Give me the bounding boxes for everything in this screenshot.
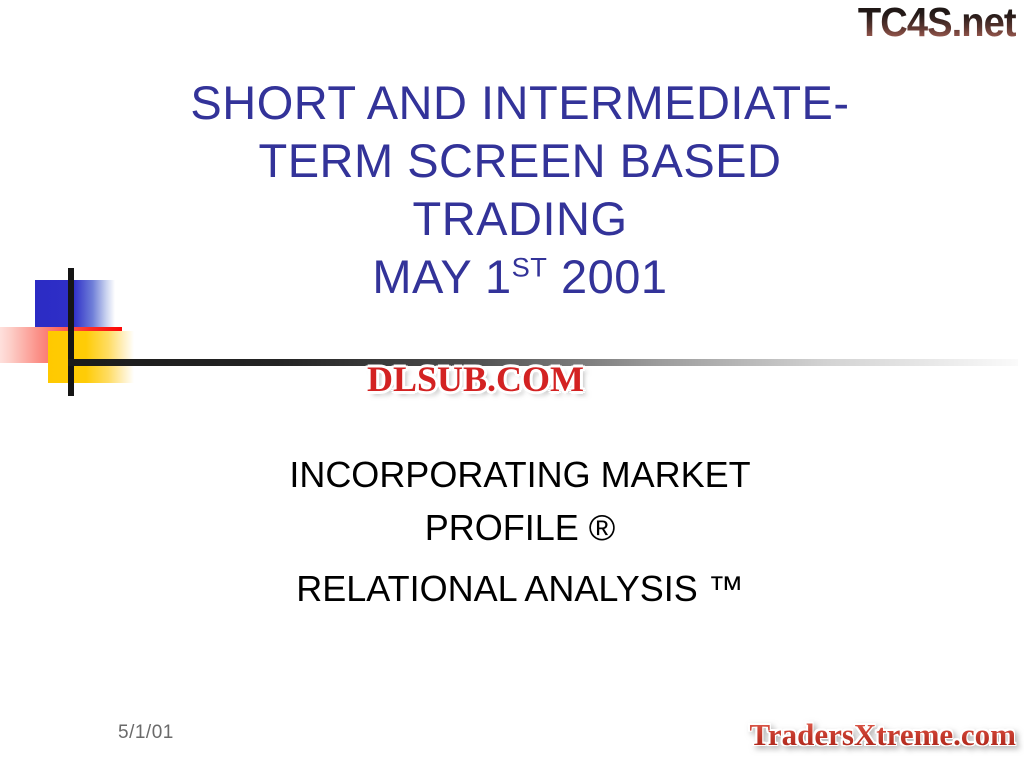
- slide-subtitle: INCORPORATING MARKET PROFILE ® RELATIONA…: [120, 448, 920, 615]
- subtitle-line-3: RELATIONAL ANALYSIS ™: [120, 562, 920, 615]
- vertical-rule-decoration: [68, 268, 74, 396]
- subtitle-line-1: INCORPORATING MARKET: [120, 448, 920, 501]
- presentation-slide: TC4S.net SHORT AND INTERMEDIATE- TERM SC…: [0, 0, 1024, 768]
- blue-square-decoration: [35, 280, 115, 332]
- title-line-2: TERM SCREEN BASED: [120, 132, 920, 190]
- tc4s-watermark-logo: TC4S.net: [858, 2, 1016, 43]
- subtitle-spacer: [120, 554, 920, 562]
- subtitle-line-2: PROFILE ®: [120, 501, 920, 554]
- slide-footer-date: 5/1/01: [118, 722, 174, 744]
- slide-title: SHORT AND INTERMEDIATE- TERM SCREEN BASE…: [120, 74, 920, 306]
- title-line-3: TRADING: [120, 190, 920, 248]
- title-line-1: SHORT AND INTERMEDIATE-: [120, 74, 920, 132]
- tradersxtreme-watermark-logo: TradersXtreme.com: [749, 718, 1016, 752]
- title-date-prefix: MAY 1: [372, 250, 511, 303]
- title-date-year: 2001: [547, 250, 667, 303]
- dlsub-watermark-logo: DLSUB.COM: [367, 360, 584, 398]
- title-line-4-date: MAY 1ST 2001: [120, 248, 920, 306]
- yellow-square-decoration: [48, 331, 134, 383]
- decorative-squares-motif: [0, 255, 200, 400]
- title-date-ordinal-superscript: ST: [512, 251, 548, 282]
